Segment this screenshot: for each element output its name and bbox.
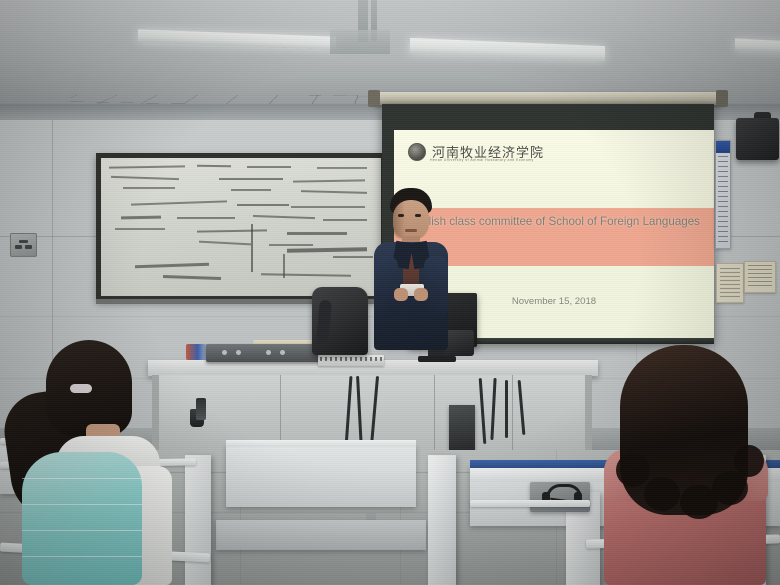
- student-left-vest: [22, 452, 142, 585]
- presenter: [372, 188, 450, 363]
- university-name-english: Henan University of Animal Husbandry and…: [430, 158, 534, 162]
- notice-board-header: [716, 141, 730, 153]
- student-right-curl-4: [712, 471, 748, 505]
- whiteboard: [96, 153, 386, 301]
- notice-board-text-lines: [718, 156, 728, 244]
- carrel-mic-back-left: [196, 398, 206, 420]
- presenter-eye-left: [398, 214, 404, 217]
- student-left: [8, 340, 183, 585]
- presenter-eye-right: [415, 214, 421, 217]
- presenter-face-shading: [393, 200, 405, 240]
- university-crest-icon: [408, 143, 426, 161]
- presenter-arm-right: [424, 256, 448, 318]
- whiteboard-surface: [101, 158, 381, 296]
- student-right-curl-5: [734, 445, 764, 477]
- lab-carrel-back-center: [226, 445, 416, 507]
- cable-6: [505, 380, 508, 438]
- carrel-divider-left: [185, 455, 211, 585]
- wall-notice-board: [715, 140, 731, 249]
- audio-amplifier: [206, 344, 324, 362]
- carrel-rail-right-upper: [470, 500, 590, 507]
- wall-notice-1: [716, 263, 744, 303]
- lab-carrel-back-center-lower: [216, 520, 426, 550]
- student-right-curl-1: [616, 453, 650, 487]
- wall-speaker-icon: [736, 118, 779, 160]
- presenter-arm-left: [374, 256, 398, 318]
- student-right-curl-2: [644, 477, 680, 511]
- wall-outlet-icon: [10, 233, 37, 257]
- student-left-hair-tie: [70, 384, 92, 393]
- student-right: [600, 345, 775, 585]
- presenter-hand-right: [414, 288, 428, 301]
- presenter-mouth: [405, 229, 417, 232]
- classroom-photo: 河南牧业经济学院 Henan University of Animal Husb…: [0, 0, 780, 585]
- presenter-hand-left: [394, 288, 408, 301]
- pc-tower: [449, 405, 475, 453]
- wall-notice-2: [744, 261, 776, 293]
- carrel-top-center: [226, 440, 416, 447]
- ceiling-beam-block: [330, 30, 390, 54]
- carrel-divider-center: [428, 455, 456, 585]
